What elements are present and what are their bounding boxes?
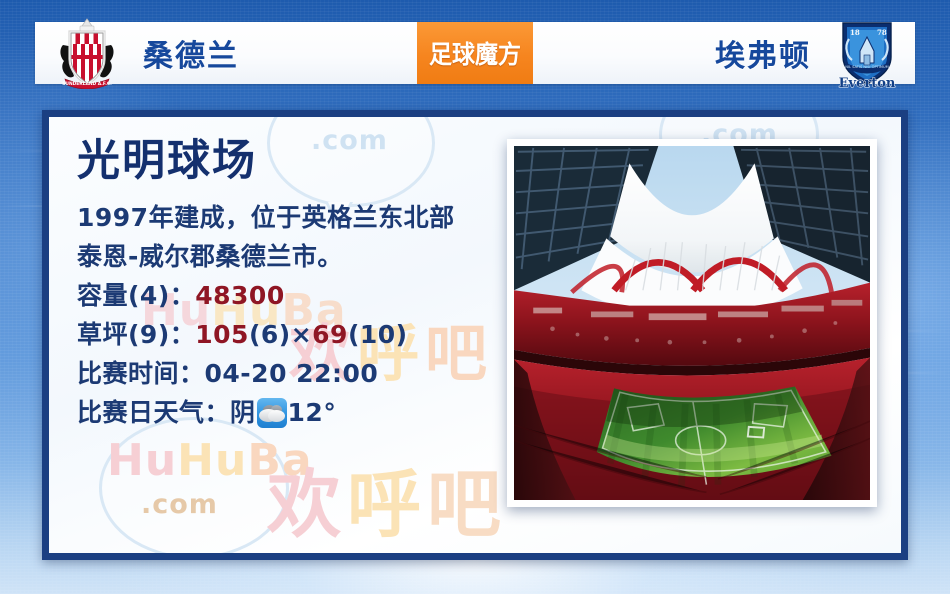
page-title: 光明球场 (77, 139, 497, 184)
watermark-char: 吧 (427, 462, 507, 548)
everton-crest-year-right: 78 (877, 28, 887, 37)
away-team-block[interactable]: 埃弗顿 18 78 NIL SATIS NISI OPTIMUM Everton (715, 22, 915, 84)
match-header-bar: SUNDERLAND A.F.C. 桑德兰 足球魔方 埃弗顿 18 78 (35, 22, 915, 84)
home-team-name: 桑德兰 (143, 31, 239, 75)
stadium-description-line-1: 1997年建成，位于英格兰东北部 (77, 198, 497, 237)
weather-condition: 阴 (230, 398, 256, 427)
sunderland-afc-crest: SUNDERLAND A.F.C. (53, 17, 121, 89)
watermark-dotcom-bottom: .com (141, 489, 218, 520)
weather-temperature: 12° (288, 398, 337, 427)
watermark-letter: H (177, 435, 215, 486)
pitch-separator: × (291, 320, 312, 349)
match-time-row: 比赛时间：04-20 22:00 (77, 354, 497, 393)
sunderland-crest-caption: SUNDERLAND A.F.C. (62, 81, 112, 87)
pitch-width: 69 (312, 320, 348, 349)
home-team-block[interactable]: SUNDERLAND A.F.C. 桑德兰 (35, 22, 239, 84)
watermark-brand-cn-bottom: 欢呼吧 (267, 445, 507, 552)
watermark-char: 欢 (267, 462, 347, 548)
stadium-photo (514, 146, 870, 500)
stadium-photo-frame (507, 139, 877, 507)
everton-crest-caption: Everton (839, 76, 896, 89)
pitch-row: 草坪(9)：105(6)×69(10) (77, 315, 497, 354)
pitch-length-rank: (6) (249, 320, 291, 349)
everton-fc-crest: 18 78 NIL SATIS NISI OPTIMUM Everton (833, 17, 901, 89)
pitch-label: 草坪(9)： (77, 320, 195, 349)
match-time-value: 04-20 22:00 (205, 359, 379, 388)
watermark-letter: u (145, 435, 177, 486)
weather-label: 比赛日天气： (77, 398, 230, 427)
pitch-length: 105 (195, 320, 249, 349)
match-time-label: 比赛时间： (77, 359, 205, 388)
watermark-letter: a (282, 435, 313, 486)
weather-row: 比赛日天气：阴12° (77, 393, 497, 432)
watermark-char: 呼 (347, 462, 427, 548)
stadium-info-text: 光明球场 1997年建成，位于英格兰东北部 泰恩-威尔郡桑德兰市。 容量(4)：… (77, 139, 497, 432)
stadium-info-card: .com .com HuHuBa .com HuHuBa 欢呼吧 欢呼吧 光明球… (42, 110, 908, 560)
stadium-description-line-2: 泰恩-威尔郡桑德兰市。 (77, 237, 497, 276)
site-logo[interactable]: 足球魔方 (417, 22, 533, 84)
cloud-shape-light (268, 410, 285, 422)
everton-crest-year-left: 18 (850, 28, 860, 37)
watermark-letter: B (247, 435, 282, 486)
capacity-label: 容量(4)： (77, 281, 195, 310)
away-team-name: 埃弗顿 (715, 31, 811, 75)
watermark-bubble-bottom-left (99, 417, 289, 559)
pitch-width-rank: (10) (348, 320, 408, 349)
capacity-value: 48300 (195, 281, 284, 310)
capacity-row: 容量(4)：48300 (77, 276, 497, 315)
watermark-letter: H (107, 435, 145, 486)
cloudy-weather-icon (257, 398, 287, 428)
watermark-letter: u (215, 435, 247, 486)
watermark-brand-latin: HuHuBa (107, 435, 313, 486)
svg-text:NIL SATIS NISI OPTIMUM: NIL SATIS NISI OPTIMUM (845, 65, 888, 69)
site-logo-text: 足球魔方 (429, 35, 521, 71)
